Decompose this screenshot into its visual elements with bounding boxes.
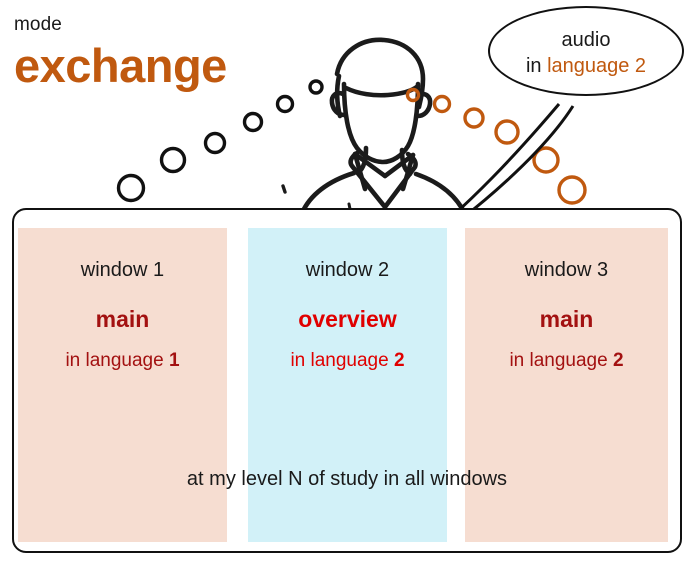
window-3-language-prefix: in language (509, 350, 613, 371)
level-note: at my level N of study in all windows (12, 468, 682, 491)
window-1-language: in language 1 (18, 350, 227, 372)
window-panel-3[interactable]: window 3 main in language 2 (465, 228, 668, 542)
window-panel-2[interactable]: window 2 overview in language 2 (248, 228, 447, 542)
diagram-canvas: mode exchange (0, 0, 694, 564)
window-3-language-number: 2 (613, 350, 624, 371)
window-1-mode: main (18, 306, 227, 333)
window-1-language-prefix: in language (65, 350, 169, 371)
window-2-language-number: 2 (394, 350, 405, 371)
window-1-title: window 1 (18, 259, 227, 282)
window-1-language-number: 1 (169, 350, 180, 371)
window-3-mode: main (465, 306, 668, 333)
window-2-title: window 2 (248, 259, 447, 282)
window-2-language-prefix: in language (290, 350, 394, 371)
window-2-mode: overview (248, 306, 447, 333)
window-2-language: in language 2 (248, 350, 447, 372)
window-3-language: in language 2 (465, 350, 668, 372)
window-3-title: window 3 (465, 259, 668, 282)
window-panel-1[interactable]: window 1 main in language 1 (18, 228, 227, 542)
